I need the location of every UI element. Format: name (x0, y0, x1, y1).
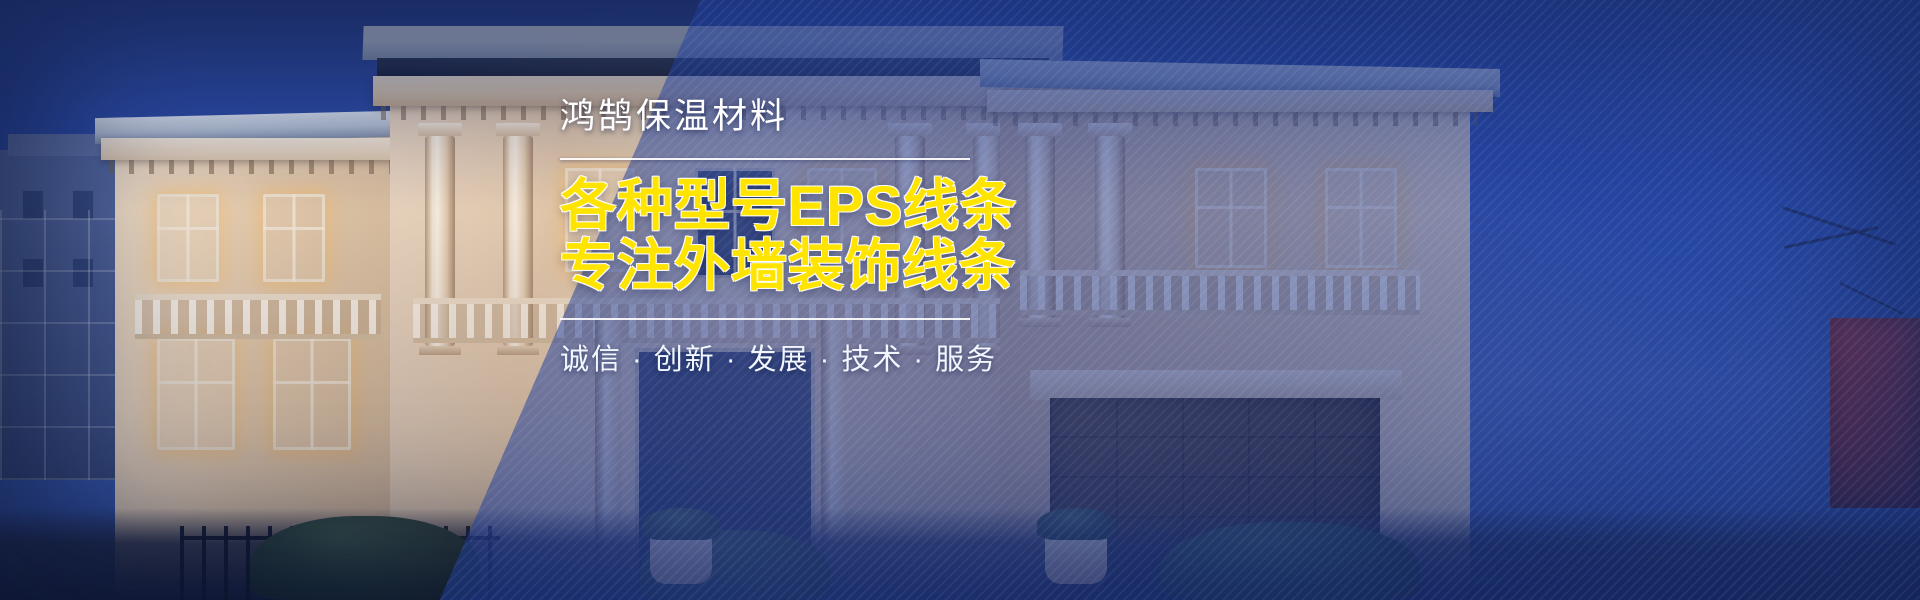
villa-window (1325, 168, 1397, 268)
villa-window (157, 194, 219, 282)
promo-banner: 鸿鹄保温材料 各种型号EPS线条 专注外墙装饰线条 诚信 · 创新 · 发展 ·… (0, 0, 1920, 600)
villa-window (273, 338, 351, 450)
villa-right-eave (987, 90, 1493, 112)
villa-balustrade (1020, 276, 1420, 310)
headline-line-2: 专注外墙装饰线条 (560, 236, 1030, 296)
shrub (1160, 522, 1420, 600)
divider-top (560, 158, 970, 160)
banner-content: 鸿鹄保温材料 各种型号EPS线条 专注外墙装饰线条 诚信 · 创新 · 发展 ·… (560, 96, 1030, 378)
divider-bottom (560, 318, 970, 320)
cornice-dentils (109, 160, 421, 174)
villa-center-roof (362, 26, 1063, 60)
villa-window (157, 338, 235, 450)
villa-window (263, 194, 325, 282)
planter-pot (1045, 534, 1107, 584)
headline-line-1: 各种型号EPS线条 (560, 176, 1030, 236)
villa-balustrade (135, 300, 381, 334)
villa-window (1195, 168, 1267, 268)
company-name: 鸿鹄保温材料 (560, 96, 1030, 138)
planter-pot (650, 534, 712, 584)
villa-left-eave (101, 138, 427, 160)
tagline: 诚信 · 创新 · 发展 · 技术 · 服务 (560, 336, 1030, 378)
cornice-dentils (993, 112, 1489, 126)
villa-center-roof-shadow (377, 58, 1049, 76)
shrub (250, 516, 480, 600)
garage-lintel (1030, 370, 1402, 400)
red-container (1830, 318, 1920, 508)
